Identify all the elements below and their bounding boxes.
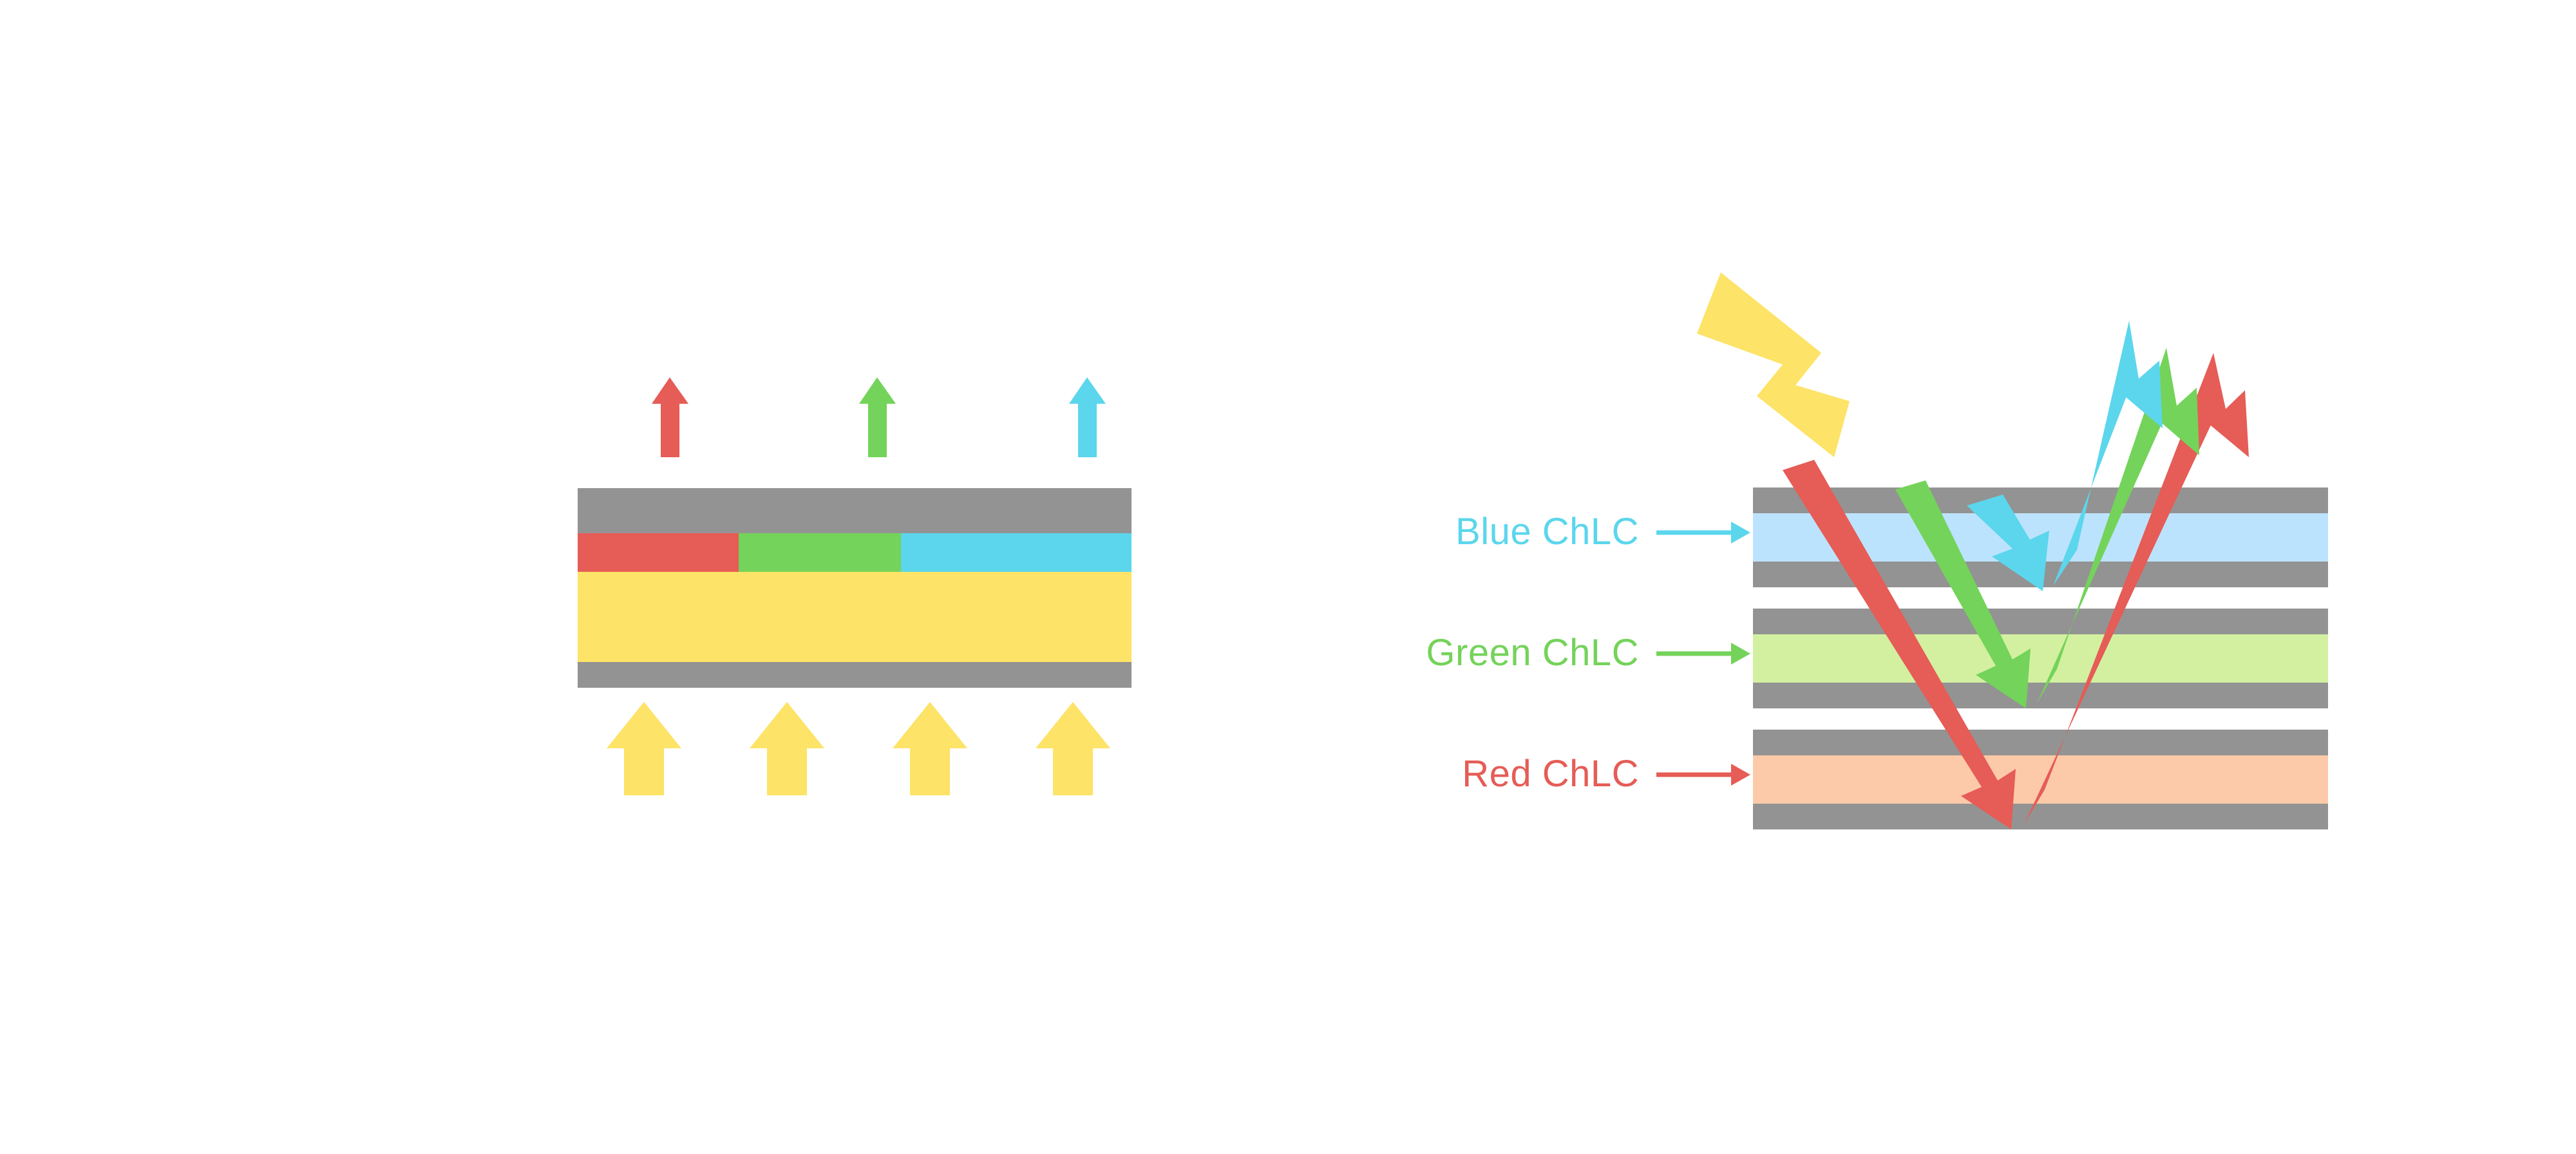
- red-chlc-label-text: Red ChLC: [1462, 753, 1639, 795]
- red-chlc-group: [1753, 730, 2328, 829]
- backlight-arrow-3: [893, 702, 967, 795]
- red-emitted-arrow: [652, 377, 688, 457]
- left-stack: [578, 488, 1132, 688]
- green-chlc-group: [1753, 609, 2328, 708]
- cyan-emitted-arrow: [1069, 377, 1106, 457]
- right-panel-chlc-stack: Blue ChLC Green ChLC Red ChLC: [1352, 245, 2383, 1017]
- red-group-bottom-electrode: [1753, 804, 2328, 829]
- backlight-arrow-4: [1036, 702, 1110, 795]
- backlight-arrow-1: [607, 702, 681, 795]
- backlight-arrow-group: [607, 702, 1110, 795]
- blue-chlc-pointer-arrowhead: [1731, 522, 1750, 544]
- left-bottom-electrode: [578, 662, 1132, 688]
- green-chlc-cell: [1753, 634, 2328, 683]
- green-color-filter: [739, 533, 901, 572]
- emitted-arrow-group: [652, 377, 1106, 457]
- blue-chlc-label: Blue ChLC: [1455, 511, 1750, 553]
- ambient-white-light-arrow: [1697, 272, 1850, 457]
- green-chlc-pointer-arrowhead: [1731, 643, 1750, 665]
- red-color-filter: [578, 533, 739, 572]
- backlight-arrow-2: [750, 702, 824, 795]
- diagram-canvas: Blue ChLC Green ChLC Red ChLC: [0, 0, 2576, 1154]
- green-chlc-label-text: Green ChLC: [1426, 632, 1639, 674]
- green-group-top-electrode: [1753, 609, 2328, 634]
- left-backlight-layer: [578, 572, 1132, 662]
- left-top-electrode: [578, 488, 1132, 533]
- blue-chlc-label-text: Blue ChLC: [1455, 511, 1639, 553]
- red-group-top-electrode: [1753, 730, 2328, 755]
- red-chlc-label: Red ChLC: [1462, 753, 1750, 795]
- red-chlc-pointer-arrowhead: [1731, 764, 1750, 786]
- blue-color-filter: [901, 533, 1132, 572]
- green-emitted-arrow: [859, 377, 896, 457]
- left-panel-emissive-stack: [535, 245, 1179, 1146]
- green-chlc-label: Green ChLC: [1426, 632, 1750, 674]
